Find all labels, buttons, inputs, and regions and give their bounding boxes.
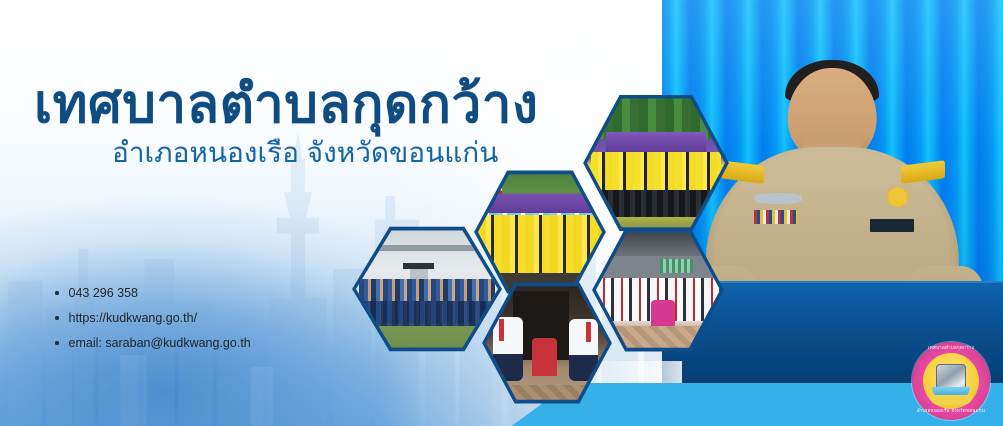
page-title: เทศบาลตำบลกุดกว้าง	[34, 78, 538, 132]
wing-badge-icon	[754, 193, 802, 204]
bullet-icon	[55, 291, 59, 295]
bullet-icon	[55, 341, 59, 345]
seal-bottom-text: อำเภอหนองเรือ จังหวัดขอนแก่น	[912, 410, 990, 415]
contact-item-website[interactable]: https://kudkwang.go.th/	[55, 311, 251, 325]
epaulet-right-icon	[901, 160, 945, 183]
seal-top-text: เทศบาลตำบลกุดกว้าง	[912, 347, 990, 352]
contact-email-text: email: saraban@kudkwang.go.th	[69, 336, 251, 350]
contact-item-email[interactable]: email: saraban@kudkwang.go.th	[55, 336, 251, 350]
page-subtitle: อำเภอหนองเรือ จังหวัดขอนแก่น	[112, 138, 538, 169]
contact-list: 043 296 358 https://kudkwang.go.th/ emai…	[55, 286, 251, 361]
seal-inner	[923, 353, 979, 409]
headline-block: เทศบาลตำบลกุดกว้าง อำเภอหนองเรือ จังหวัด…	[34, 78, 538, 169]
ribbon-bar-icon	[754, 210, 798, 224]
contact-website-text: https://kudkwang.go.th/	[69, 311, 198, 325]
ribbon-icon	[929, 395, 973, 405]
contact-item-phone[interactable]: 043 296 358	[55, 286, 251, 300]
bullet-icon	[55, 316, 59, 320]
contact-phone-text: 043 296 358	[69, 286, 139, 300]
municipality-banner: เทศบาลตำบลกุดกว้าง อำเภอหนองเรือ จังหวัด…	[0, 0, 1003, 426]
insignia-icon	[887, 187, 907, 206]
municipal-seal-logo[interactable]: เทศบาลตำบลกุดกว้าง อำเภอหนองเรือ จังหวัด…	[912, 342, 990, 420]
name-plate	[870, 219, 914, 232]
